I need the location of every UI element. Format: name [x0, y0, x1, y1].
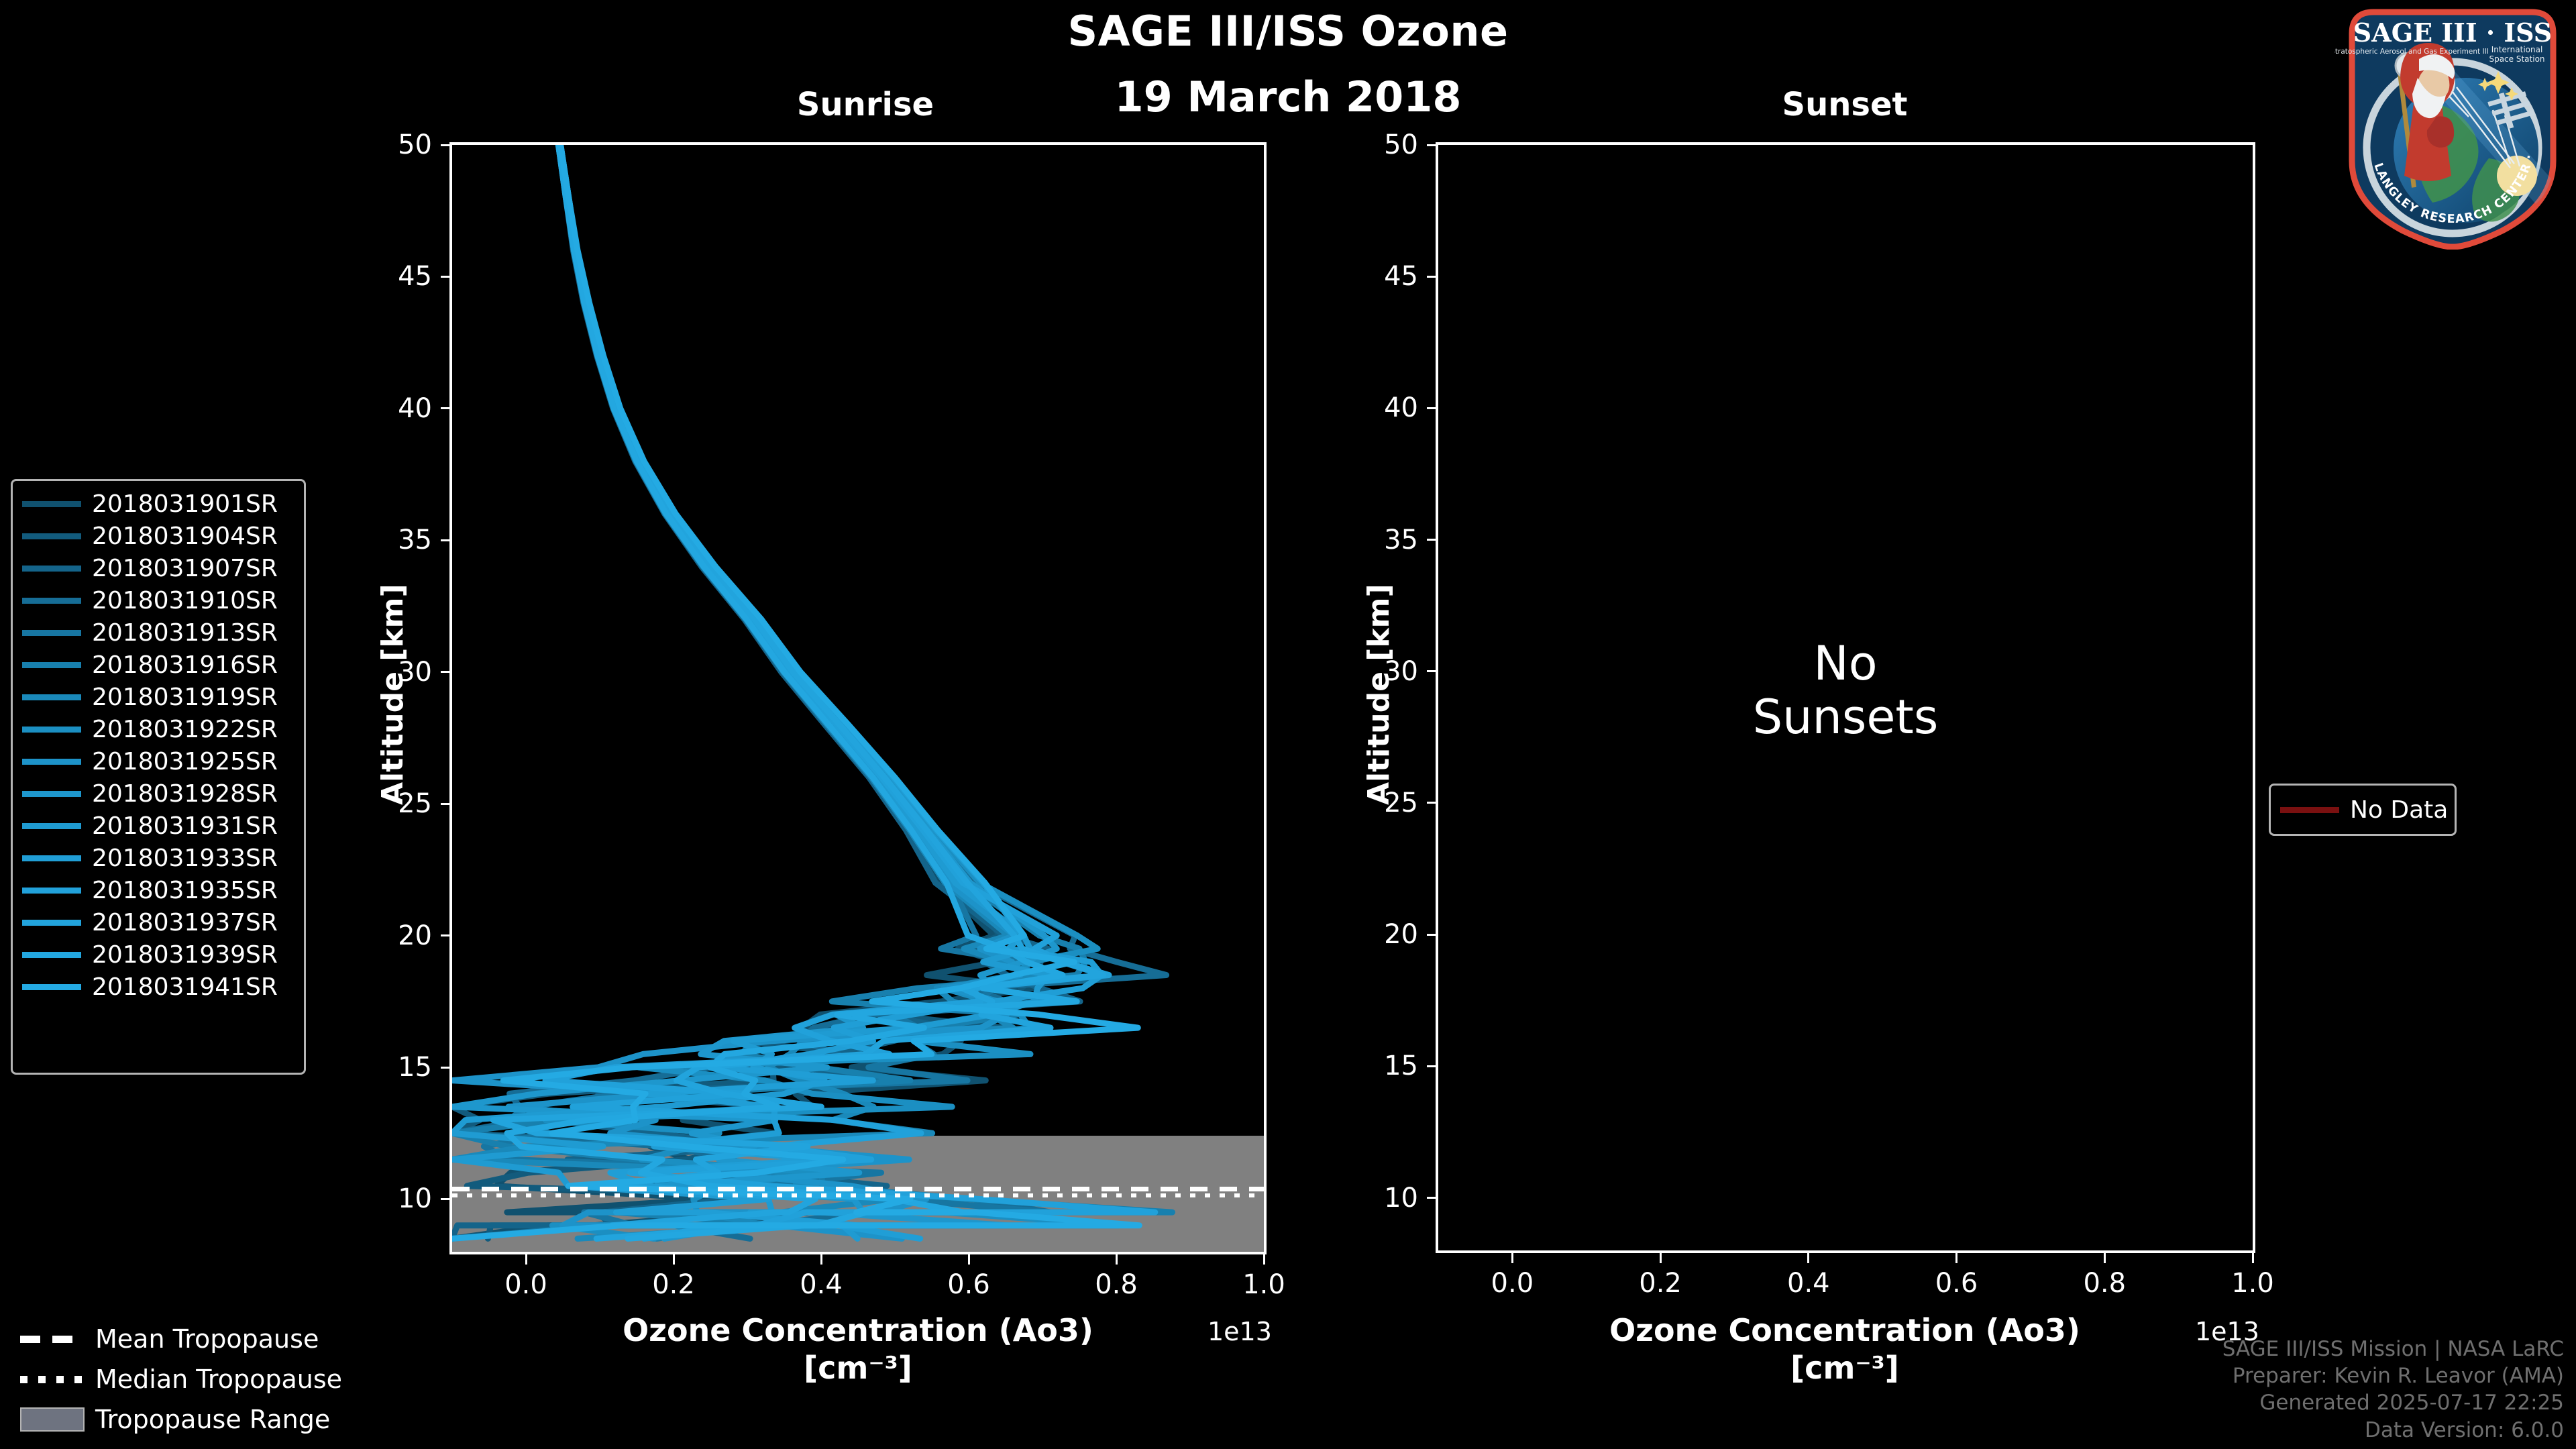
legend-item-label: 2018031933SR	[92, 845, 278, 872]
legend-item-profile[interactable]: 2018031907SR	[13, 552, 304, 584]
y-tick	[441, 1067, 452, 1069]
dotted-line-icon	[20, 1376, 85, 1383]
y-tick-label: 50	[1331, 129, 1418, 160]
legend-item-label: 2018031939SR	[92, 941, 278, 969]
y-tick	[441, 276, 452, 278]
logo-title: SAGE III · ISS	[2353, 17, 2552, 48]
logo-subtitle-right-1: International	[2491, 45, 2543, 54]
x-axis-label-left-line2: [cm⁻³]	[455, 1349, 1260, 1387]
x-tick	[1263, 1253, 1265, 1265]
profile-line-icon	[22, 694, 81, 700]
x-axis-label-right-line2: [cm⁻³]	[1442, 1349, 2247, 1387]
y-tick-label: 40	[345, 393, 432, 424]
legend-item-profile[interactable]: 2018031939SR	[13, 938, 304, 971]
x-axis-label-right: Ozone Concentration (Ao3) [cm⁻³]	[1442, 1311, 2247, 1387]
no-sunsets-message: No Sunsets	[1753, 637, 1939, 745]
profile-line-icon	[22, 888, 81, 894]
x-tick	[820, 1253, 822, 1265]
y-tick	[1427, 1197, 1438, 1199]
x-tick	[1807, 1252, 1809, 1263]
y-tick	[441, 144, 452, 146]
profile-line-icon	[22, 598, 81, 604]
y-tick	[441, 1198, 452, 1200]
y-tick	[1427, 276, 1438, 278]
profile-line-icon	[22, 566, 81, 572]
legend-item-label: 2018031925SR	[92, 748, 278, 775]
profile-line-icon	[22, 501, 81, 507]
x-tick-label: 0.4	[1755, 1268, 1862, 1299]
y-tick-label: 10	[345, 1183, 432, 1214]
page-title: SAGE III/ISS Ozone	[0, 9, 2576, 54]
x-tick-label: 0.2	[1607, 1268, 1714, 1299]
x-tick-label: 0.0	[472, 1269, 580, 1300]
x-tick	[1116, 1253, 1118, 1265]
profile-line	[561, 145, 1102, 1238]
panel-title-sunset: Sunset	[1677, 86, 2012, 123]
legend-item-label: 2018031919SR	[92, 684, 278, 711]
y-tick-label: 10	[1331, 1183, 1418, 1214]
median-tropopause-line	[452, 1193, 1264, 1197]
legend-item-profile[interactable]: 2018031933SR	[13, 842, 304, 874]
legend-item-label: 2018031931SR	[92, 812, 278, 840]
y-tick-label: 15	[345, 1052, 432, 1083]
y-tick	[441, 407, 452, 409]
legend-item-profile[interactable]: 2018031922SR	[13, 713, 304, 745]
legend-item-label: 2018031935SR	[92, 877, 278, 904]
x-tick-label: 0.4	[767, 1269, 875, 1300]
profile-line-icon	[22, 662, 81, 668]
legend-median-tropopause: Median Tropopause	[20, 1362, 342, 1397]
legend-item-profile[interactable]: 2018031904SR	[13, 520, 304, 552]
y-tick	[441, 539, 452, 541]
y-tick	[1427, 407, 1438, 409]
x-tick-label: 0.6	[915, 1269, 1022, 1300]
profile-line-icon	[22, 759, 81, 765]
profile-line-icon	[22, 533, 81, 539]
x-tick-label: 1.0	[1210, 1269, 1318, 1300]
y-tick-label: 20	[1331, 919, 1418, 950]
footer-line-3: Generated 2025-07-17 22:25	[2222, 1389, 2564, 1416]
legend-item-label: 2018031907SR	[92, 555, 278, 582]
y-tick-label: 15	[1331, 1051, 1418, 1081]
y-tick	[1427, 802, 1438, 804]
footer-line-1: SAGE III/ISS Mission | NASA LaRC	[2222, 1336, 2564, 1362]
logo-subtitle-right-2: Space Station	[2489, 54, 2544, 64]
y-axis-label-left: Altitude [km]	[376, 584, 410, 805]
footer-line-2: Preparer: Kevin R. Leavor (AMA)	[2222, 1362, 2564, 1389]
logo-subtitle-left: Stratospheric Aerosol and Gas Experiment…	[2334, 48, 2489, 56]
legend-tropopause-range-label: Tropopause Range	[95, 1405, 330, 1434]
x-tick-label: 0.6	[1903, 1268, 2010, 1299]
footer: SAGE III/ISS Mission | NASA LaRC Prepare…	[2222, 1336, 2564, 1444]
x-axis-offset-left: 1e13	[1207, 1317, 1272, 1346]
x-tick	[1511, 1252, 1513, 1263]
legend-item-label: 2018031913SR	[92, 619, 278, 647]
x-tick-label: 0.2	[620, 1269, 727, 1300]
legend-item-profile[interactable]: 2018031925SR	[13, 745, 304, 777]
y-tick	[1427, 934, 1438, 936]
profile-line-icon	[22, 984, 81, 990]
y-tick-label: 45	[345, 261, 432, 292]
y-tick-label: 45	[1331, 261, 1418, 292]
legend-item-label: 2018031904SR	[92, 523, 278, 550]
legend-item-label: 2018031928SR	[92, 780, 278, 808]
profile-line-icon	[22, 630, 81, 636]
y-tick	[441, 803, 452, 805]
legend-item-label: 2018031922SR	[92, 716, 278, 743]
profile-line-icon	[22, 727, 81, 733]
y-axis-label-right: Altitude [km]	[1362, 584, 1396, 805]
y-tick	[1427, 144, 1438, 146]
ozone-profile-curves	[452, 145, 1264, 1252]
x-tick	[525, 1253, 527, 1265]
x-tick	[1955, 1252, 1957, 1263]
y-tick	[441, 934, 452, 936]
legend-mean-tropopause-label: Mean Tropopause	[95, 1324, 319, 1354]
legend-item-profile[interactable]: 2018031928SR	[13, 777, 304, 810]
no-data-legend[interactable]: No Data	[2269, 784, 2457, 836]
sage3-iss-mission-patch-logo: SAGE III · ISS Stratospheric Aerosol and…	[2334, 3, 2571, 250]
legend-item-profile[interactable]: 2018031941SR	[13, 971, 304, 1003]
x-tick	[2104, 1252, 2106, 1263]
page-subtitle: 19 March 2018	[0, 72, 2576, 121]
footer-line-4: Data Version: 6.0.0	[2222, 1417, 2564, 1444]
profile-line-icon	[22, 791, 81, 797]
y-tick-label: 35	[345, 525, 432, 555]
y-tick-label: 40	[1331, 392, 1418, 423]
legend-item-profile[interactable]: 2018031935SR	[13, 874, 304, 906]
y-tick-label: 20	[345, 920, 432, 951]
x-tick-label: 0.8	[1063, 1269, 1170, 1300]
x-axis-label-left-line1: Ozone Concentration (Ao3)	[455, 1311, 1260, 1349]
no-data-line-icon	[2280, 807, 2339, 813]
x-axis-label-left: Ozone Concentration (Ao3) [cm⁻³]	[455, 1311, 1260, 1387]
y-tick	[441, 671, 452, 673]
profile-legend[interactable]: 2018031901SR2018031904SR2018031907SR2018…	[11, 479, 306, 1075]
no-data-label: No Data	[2350, 796, 2448, 824]
x-tick	[2252, 1252, 2254, 1263]
filled-box-icon	[20, 1407, 85, 1432]
mean-tropopause-line-overlay	[452, 1187, 1264, 1191]
legend-item-profile[interactable]: 2018031931SR	[13, 810, 304, 842]
x-tick-label: 0.0	[1458, 1268, 1566, 1299]
y-tick	[1427, 539, 1438, 541]
legend-tropopause-range: Tropopause Range	[20, 1402, 330, 1437]
x-tick	[968, 1253, 970, 1265]
panel-title-sunrise: Sunrise	[698, 86, 1033, 123]
legend-item-label: 2018031941SR	[92, 973, 278, 1001]
legend-mean-tropopause: Mean Tropopause	[20, 1322, 319, 1356]
legend-item-profile[interactable]: 2018031919SR	[13, 681, 304, 713]
legend-item-profile[interactable]: 2018031916SR	[13, 649, 304, 681]
y-tick	[1427, 670, 1438, 672]
x-tick-label: 1.0	[2199, 1268, 2306, 1299]
legend-item-profile[interactable]: 2018031910SR	[13, 584, 304, 616]
x-tick-label: 0.8	[2051, 1268, 2158, 1299]
legend-item-profile[interactable]: 2018031913SR	[13, 616, 304, 649]
legend-item-label: 2018031916SR	[92, 651, 278, 679]
legend-item-label: 2018031901SR	[92, 490, 278, 518]
y-tick-label: 50	[345, 129, 432, 160]
x-tick	[1660, 1252, 1662, 1263]
sunrise-plot-area	[452, 145, 1264, 1252]
legend-item-label: 2018031937SR	[92, 909, 278, 936]
legend-median-tropopause-label: Median Tropopause	[95, 1364, 342, 1394]
legend-item-label: 2018031910SR	[92, 587, 278, 614]
legend-item-profile[interactable]: 2018031901SR	[13, 488, 304, 520]
profile-line-icon	[22, 823, 81, 829]
y-tick-label: 35	[1331, 525, 1418, 555]
profile-line-icon	[22, 920, 81, 926]
x-tick	[673, 1253, 675, 1265]
x-axis-label-right-line1: Ozone Concentration (Ao3)	[1442, 1311, 2247, 1349]
legend-item-profile[interactable]: 2018031937SR	[13, 906, 304, 938]
profile-line-icon	[22, 855, 81, 861]
dashed-line-icon	[20, 1336, 85, 1343]
profile-line-icon	[22, 952, 81, 958]
y-tick	[1427, 1065, 1438, 1067]
